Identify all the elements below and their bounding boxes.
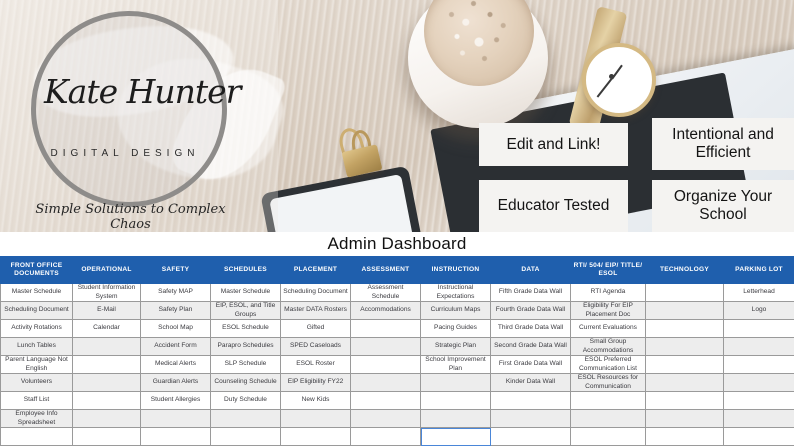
cell-r6-c4[interactable]: New Kids [281, 392, 351, 410]
cell-r6-c6[interactable] [421, 392, 491, 410]
cell-r3-c4[interactable]: SPED Caseloads [281, 338, 351, 356]
cell-r7-c8[interactable] [571, 410, 646, 428]
table-row [1, 428, 794, 446]
cell-r1-c9[interactable] [646, 302, 724, 320]
cell-r8-c9[interactable] [646, 428, 724, 446]
cell-r7-c7[interactable] [491, 410, 571, 428]
cell-r2-c7[interactable]: Third Grade Data Wall [491, 320, 571, 338]
cell-r3-c2[interactable]: Accident Form [141, 338, 211, 356]
cell-r8-c2[interactable] [141, 428, 211, 446]
cell-r6-c7[interactable] [491, 392, 571, 410]
cell-r1-c5[interactable]: Accommodations [351, 302, 421, 320]
cell-r4-c3[interactable]: SLP Schedule [211, 356, 281, 374]
cell-r5-c3[interactable]: Counseling Schedule [211, 374, 281, 392]
column-header-2[interactable]: SAFETY [141, 257, 211, 284]
cell-r3-c8[interactable]: Small Group Accommodations [571, 338, 646, 356]
cell-r7-c0[interactable]: Employee Info Spreadsheet [1, 410, 73, 428]
cell-r4-c4[interactable]: ESOL Roster [281, 356, 351, 374]
cell-r2-c9[interactable] [646, 320, 724, 338]
cell-r1-c10[interactable]: Logo [724, 302, 794, 320]
brand-name: Kate Hunter [44, 72, 209, 111]
cell-r5-c10[interactable] [724, 374, 794, 392]
cell-r6-c10[interactable] [724, 392, 794, 410]
cell-r6-c0[interactable]: Staff List [1, 392, 73, 410]
cell-r5-c0[interactable]: Volunteers [1, 374, 73, 392]
cell-r0-c6[interactable]: Instructional Expectations [421, 284, 491, 302]
cell-r7-c6[interactable] [421, 410, 491, 428]
column-header-4[interactable]: PLACEMENT [281, 257, 351, 284]
callout-organize-your-school: Organize Your School [652, 180, 794, 232]
cell-r3-c7[interactable]: Second Grade Data Wall [491, 338, 571, 356]
cell-r0-c4[interactable]: Scheduling Document [281, 284, 351, 302]
column-header-0[interactable]: FRONT OFFICE DOCUMENTS [1, 257, 73, 284]
cell-r4-c6[interactable]: School Improvement Plan [421, 356, 491, 374]
cell-r8-c8[interactable] [571, 428, 646, 446]
cell-r4-c7[interactable]: First Grade Data Wall [491, 356, 571, 374]
dashboard-grid-container[interactable]: FRONT OFFICE DOCUMENTSOPERATIONALSAFETYS… [0, 256, 794, 447]
dashboard-table[interactable]: FRONT OFFICE DOCUMENTSOPERATIONALSAFETYS… [0, 256, 794, 446]
table-row: Staff ListStudent AllergiesDuty Schedule… [1, 392, 794, 410]
cell-r0-c7[interactable]: Fifth Grade Data Wall [491, 284, 571, 302]
column-header-7[interactable]: DATA [491, 257, 571, 284]
cell-r4-c0[interactable]: Parent Language Not English [1, 356, 73, 374]
column-header-6[interactable]: INSTRUCTION [421, 257, 491, 284]
cell-r7-c9[interactable] [646, 410, 724, 428]
cell-r2-c8[interactable]: Current Evaluations [571, 320, 646, 338]
table-row: Activity RotationsCalendarSchool MapESOL… [1, 320, 794, 338]
cell-r2-c5[interactable] [351, 320, 421, 338]
grid-body: Master ScheduleStudent Information Syste… [1, 284, 794, 446]
callout-intentional-efficient: Intentional and Efficient [652, 118, 794, 170]
cell-r1-c3[interactable]: EIP, ESOL, and Title Groups [211, 302, 281, 320]
brand-logo: Kate Hunter DIGITAL DESIGN Simple Soluti… [0, 0, 278, 232]
cell-r3-c0[interactable]: Lunch Tables [1, 338, 73, 356]
cell-r0-c5[interactable]: Assessment Schedule [351, 284, 421, 302]
cell-r6-c8[interactable] [571, 392, 646, 410]
cell-r3-c9[interactable] [646, 338, 724, 356]
cell-r3-c6[interactable]: Strategic Plan [421, 338, 491, 356]
cell-r4-c1[interactable] [73, 356, 141, 374]
cell-r2-c4[interactable]: Gifted [281, 320, 351, 338]
cell-r8-c10[interactable] [724, 428, 794, 446]
cell-r2-c1[interactable]: Calendar [73, 320, 141, 338]
cell-r1-c0[interactable]: Scheduling Document [1, 302, 73, 320]
grid-header: FRONT OFFICE DOCUMENTSOPERATIONALSAFETYS… [1, 257, 794, 284]
table-row: Scheduling DocumentE-MailSafety PlanEIP,… [1, 302, 794, 320]
cell-r7-c10[interactable] [724, 410, 794, 428]
cell-r8-c7[interactable] [491, 428, 571, 446]
selected-cell[interactable] [421, 428, 491, 446]
cell-r1-c2[interactable]: Safety Plan [141, 302, 211, 320]
cell-r0-c0[interactable]: Master Schedule [1, 284, 73, 302]
cell-r8-c0[interactable] [1, 428, 73, 446]
cell-r8-c1[interactable] [73, 428, 141, 446]
cell-r6-c5[interactable] [351, 392, 421, 410]
title-bar: Admin Dashboard [0, 232, 794, 256]
cell-r7-c4[interactable] [281, 410, 351, 428]
table-row: Master ScheduleStudent Information Syste… [1, 284, 794, 302]
cell-r7-c2[interactable] [141, 410, 211, 428]
cell-r5-c7[interactable]: Kinder Data Wall [491, 374, 571, 392]
column-header-1[interactable]: OPERATIONAL [73, 257, 141, 284]
callout-edit-and-link: Edit and Link! [479, 123, 628, 166]
cell-r0-c9[interactable] [646, 284, 724, 302]
grid-header-row: FRONT OFFICE DOCUMENTSOPERATIONALSAFETYS… [1, 257, 794, 284]
cell-r2-c3[interactable]: ESOL Schedule [211, 320, 281, 338]
table-row: VolunteersGuardian AlertsCounseling Sche… [1, 374, 794, 392]
cell-r5-c8[interactable]: ESOL Resources for Communication [571, 374, 646, 392]
cell-r7-c1[interactable] [73, 410, 141, 428]
cell-r2-c2[interactable]: School Map [141, 320, 211, 338]
cell-r7-c3[interactable] [211, 410, 281, 428]
cell-r6-c3[interactable]: Duty Schedule [211, 392, 281, 410]
page-title: Admin Dashboard [327, 234, 466, 254]
column-header-8[interactable]: RTI/ 504/ EIP/ TITLE/ ESOL [571, 257, 646, 284]
admin-dashboard-page: Kate Hunter DIGITAL DESIGN Simple Soluti… [0, 0, 794, 447]
cell-r3-c10[interactable] [724, 338, 794, 356]
cell-r0-c3[interactable]: Master Schedule [211, 284, 281, 302]
cell-r2-c6[interactable]: Pacing Guides [421, 320, 491, 338]
cell-r2-c10[interactable] [724, 320, 794, 338]
table-row: Parent Language Not EnglishMedical Alert… [1, 356, 794, 374]
cell-r5-c2[interactable]: Guardian Alerts [141, 374, 211, 392]
cell-r8-c5[interactable] [351, 428, 421, 446]
cell-r5-c5[interactable] [351, 374, 421, 392]
cell-r1-c8[interactable]: Eligibility For EIP Placement Doc [571, 302, 646, 320]
cell-r6-c1[interactable] [73, 392, 141, 410]
brand-subtitle: DIGITAL DESIGN [44, 148, 206, 159]
column-header-5[interactable]: ASSESSMENT [351, 257, 421, 284]
callout-educator-tested: Educator Tested [479, 180, 628, 232]
column-header-9[interactable]: TECHNOLOGY [646, 257, 724, 284]
cell-r3-c3[interactable]: Parapro Schedules [211, 338, 281, 356]
cell-r8-c4[interactable] [281, 428, 351, 446]
cell-r4-c10[interactable] [724, 356, 794, 374]
cell-r7-c5[interactable] [351, 410, 421, 428]
cell-r5-c9[interactable] [646, 374, 724, 392]
cell-r0-c1[interactable]: Student Information System [73, 284, 141, 302]
column-header-10[interactable]: PARKING LOT [724, 257, 794, 284]
column-header-3[interactable]: SCHEDULES [211, 257, 281, 284]
cell-r0-c10[interactable]: Letterhead [724, 284, 794, 302]
cell-r1-c1[interactable]: E-Mail [73, 302, 141, 320]
cell-r3-c1[interactable] [73, 338, 141, 356]
table-row: Lunch TablesAccident FormParapro Schedul… [1, 338, 794, 356]
cell-r1-c6[interactable]: Curriculum Maps [421, 302, 491, 320]
cell-r5-c6[interactable] [421, 374, 491, 392]
cell-r1-c7[interactable]: Fourth Grade Data Wall [491, 302, 571, 320]
cell-r0-c2[interactable]: Safety MAP [141, 284, 211, 302]
cell-r6-c2[interactable]: Student Allergies [141, 392, 211, 410]
cell-r4-c9[interactable] [646, 356, 724, 374]
cell-r5-c4[interactable]: EIP Eligibility FY22 [281, 374, 351, 392]
cell-r0-c8[interactable]: RTI Agenda [571, 284, 646, 302]
table-row: Employee Info Spreadsheet [1, 410, 794, 428]
cell-r4-c2[interactable]: Medical Alerts [141, 356, 211, 374]
cell-r2-c0[interactable]: Activity Rotations [1, 320, 73, 338]
watch-face [582, 43, 656, 117]
cell-r1-c4[interactable]: Master DATA Rosters [281, 302, 351, 320]
cell-r3-c5[interactable] [351, 338, 421, 356]
coffee-surface [424, 0, 534, 86]
brand-tagline: Simple Solutions to Complex Chaos [18, 202, 243, 232]
cell-r4-c8[interactable]: ESOL Preferred Communication List [571, 356, 646, 374]
cell-r5-c1[interactable] [73, 374, 141, 392]
cell-r4-c5[interactable] [351, 356, 421, 374]
cell-r6-c9[interactable] [646, 392, 724, 410]
cell-r8-c3[interactable] [211, 428, 281, 446]
watch-center-pin [609, 74, 614, 79]
